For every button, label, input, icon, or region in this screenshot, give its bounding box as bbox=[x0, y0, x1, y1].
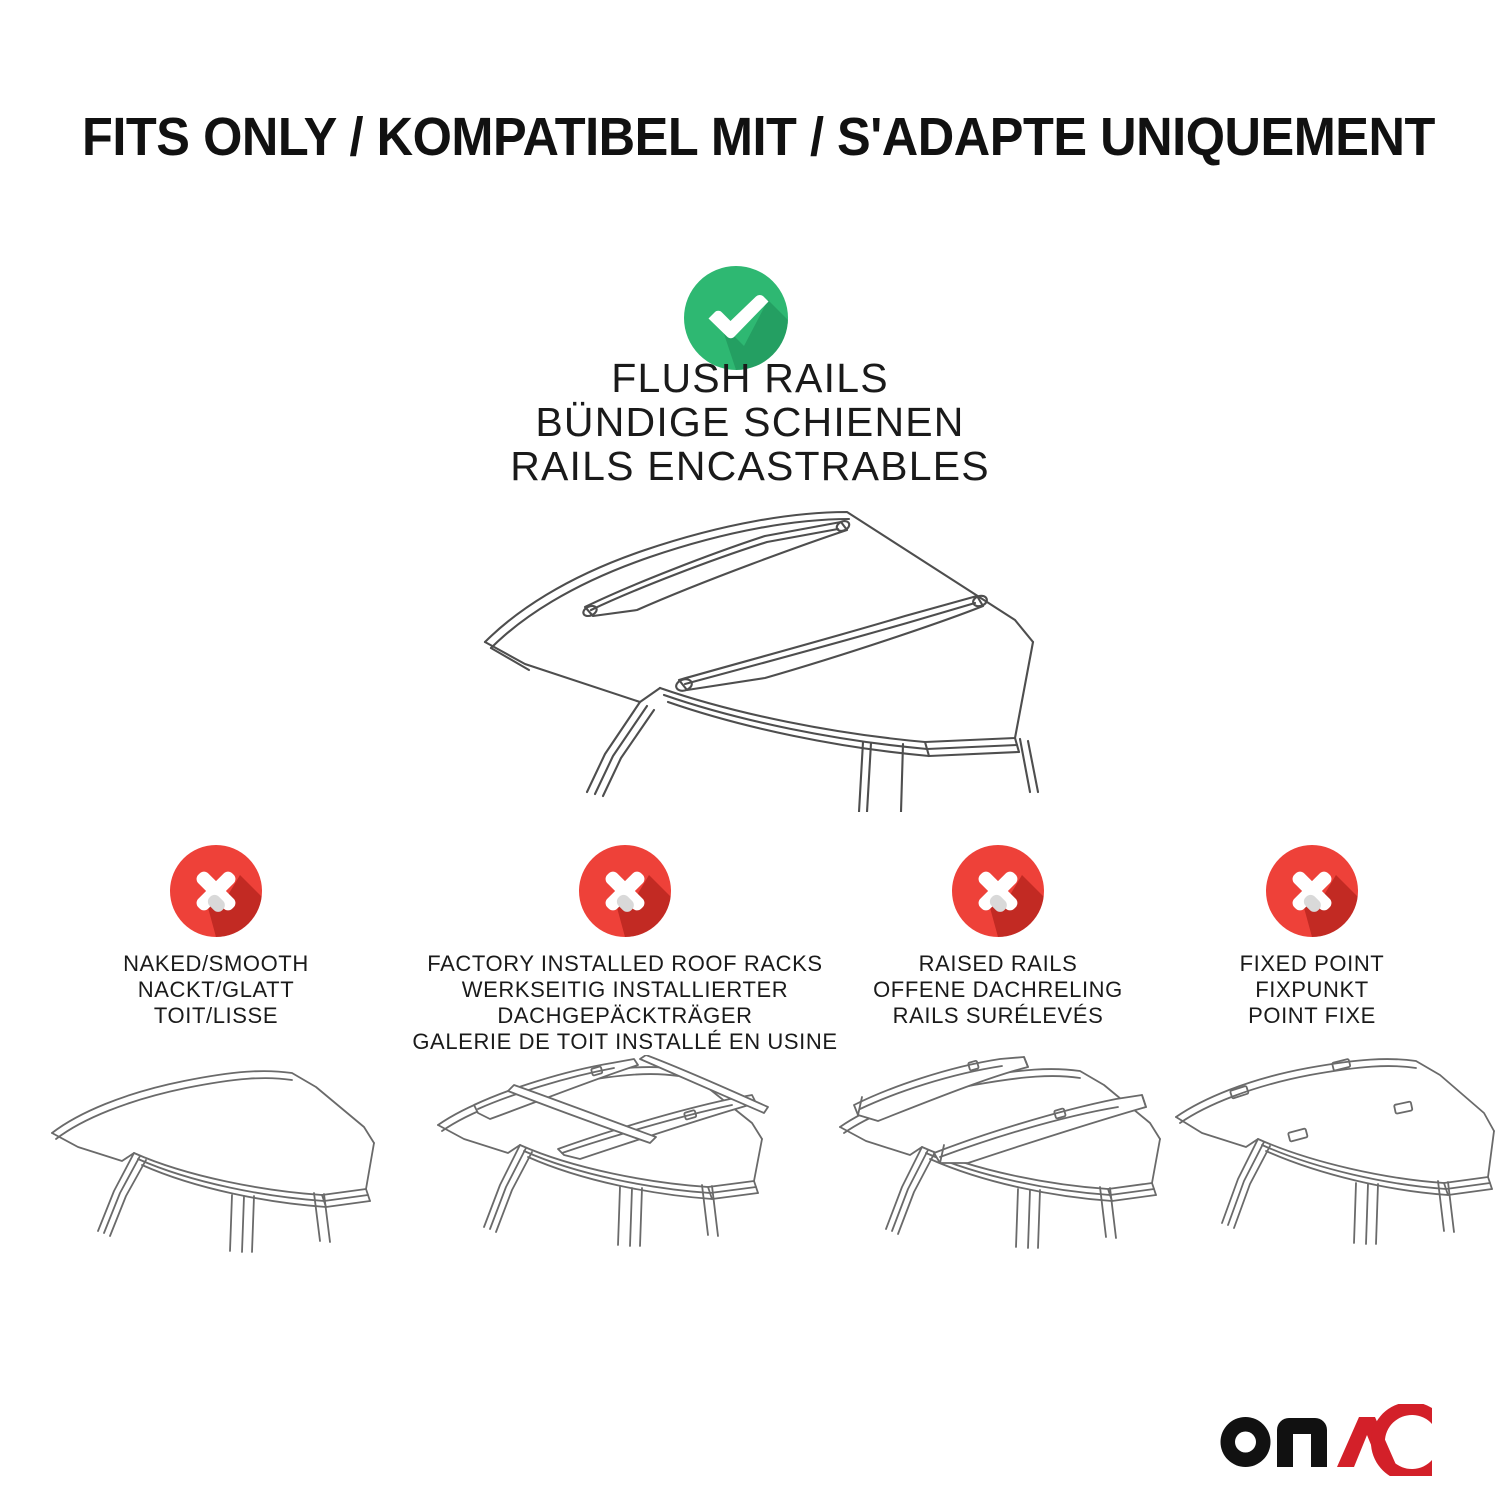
compatible-line-de: BÜNDIGE SCHIENEN bbox=[250, 400, 1250, 444]
incompatible-column-fixed-point: FIXED POINT FIXPUNKT POINT FIXE bbox=[1172, 845, 1452, 1029]
caption-line-en: FIXED POINT bbox=[1172, 951, 1452, 977]
car-roof-with-raised-rails-illustration bbox=[828, 1055, 1198, 1270]
caption-naked-smooth: NAKED/SMOOTH NACKT/GLATT TOIT/LISSE bbox=[48, 951, 384, 1029]
caption-factory-roof-racks: FACTORY INSTALLED ROOF RACKS WERKSEITIG … bbox=[396, 951, 854, 1055]
x-circle-icon bbox=[952, 845, 1044, 937]
caption-line-en: RAISED RAILS bbox=[838, 951, 1158, 977]
page-title: FITS ONLY / KOMPATIBEL MIT / S'ADAPTE UN… bbox=[82, 106, 1335, 168]
caption-line-fr: POINT FIXE bbox=[1172, 1003, 1452, 1029]
caption-line-de-1: WERKSEITIG INSTALLIERTER bbox=[396, 977, 854, 1003]
caption-line-de: FIXPUNKT bbox=[1172, 977, 1452, 1003]
badge-wrap bbox=[1172, 845, 1452, 937]
compatible-line-fr: RAILS ENCASTRABLES bbox=[250, 444, 1250, 488]
incompatible-column-factory-roof-racks: FACTORY INSTALLED ROOF RACKS WERKSEITIG … bbox=[396, 845, 854, 1055]
badge-wrap bbox=[838, 845, 1158, 937]
logo-letter-c bbox=[1371, 1404, 1432, 1476]
x-circle-icon bbox=[170, 845, 262, 937]
omac-logo bbox=[1219, 1404, 1434, 1476]
compatible-line-en: FLUSH RAILS bbox=[250, 356, 1250, 400]
logo-letter-o bbox=[1221, 1417, 1271, 1467]
compatible-heading: FLUSH RAILS BÜNDIGE SCHIENEN RAILS ENCAS… bbox=[250, 356, 1250, 488]
cross-glyph bbox=[579, 845, 671, 937]
caption-line-de-2: DACHGEPÄCKTRÄGER bbox=[396, 1003, 854, 1029]
caption-line-fr: TOIT/LISSE bbox=[48, 1003, 384, 1029]
car-roof-with-fixed-points-illustration bbox=[1172, 1055, 1500, 1270]
badge-wrap bbox=[48, 845, 384, 937]
caption-line-fr: RAILS SURÉLEVÉS bbox=[838, 1003, 1158, 1029]
incompatible-column-naked-smooth: NAKED/SMOOTH NACKT/GLATT TOIT/LISSE bbox=[48, 845, 384, 1029]
caption-line-de: OFFENE DACHRELING bbox=[838, 977, 1158, 1003]
caption-line-de: NACKT/GLATT bbox=[48, 977, 384, 1003]
caption-line-en: NAKED/SMOOTH bbox=[48, 951, 384, 977]
badge-wrap bbox=[396, 845, 854, 937]
caption-line-fr: GALERIE DE TOIT INSTALLÉ EN USINE bbox=[396, 1029, 854, 1055]
cross-glyph bbox=[1266, 845, 1358, 937]
logo-letter-m bbox=[1277, 1418, 1327, 1467]
caption-raised-rails: RAISED RAILS OFFENE DACHRELING RAILS SUR… bbox=[838, 951, 1158, 1029]
car-roof-with-factory-crossbars-illustration bbox=[434, 1055, 804, 1270]
infographic-page: FITS ONLY / KOMPATIBEL MIT / S'ADAPTE UN… bbox=[0, 0, 1500, 1500]
incompatible-column-raised-rails: RAISED RAILS OFFENE DACHRELING RAILS SUR… bbox=[838, 845, 1158, 1029]
caption-line-en: FACTORY INSTALLED ROOF RACKS bbox=[396, 951, 854, 977]
caption-fixed-point: FIXED POINT FIXPUNKT POINT FIXE bbox=[1172, 951, 1452, 1029]
x-circle-icon bbox=[579, 845, 671, 937]
car-roof-bare-illustration bbox=[48, 1055, 384, 1270]
car-roof-with-flush-rails-illustration bbox=[455, 492, 1065, 812]
x-circle-icon bbox=[1266, 845, 1358, 937]
cross-glyph bbox=[952, 845, 1044, 937]
cross-glyph bbox=[170, 845, 262, 937]
